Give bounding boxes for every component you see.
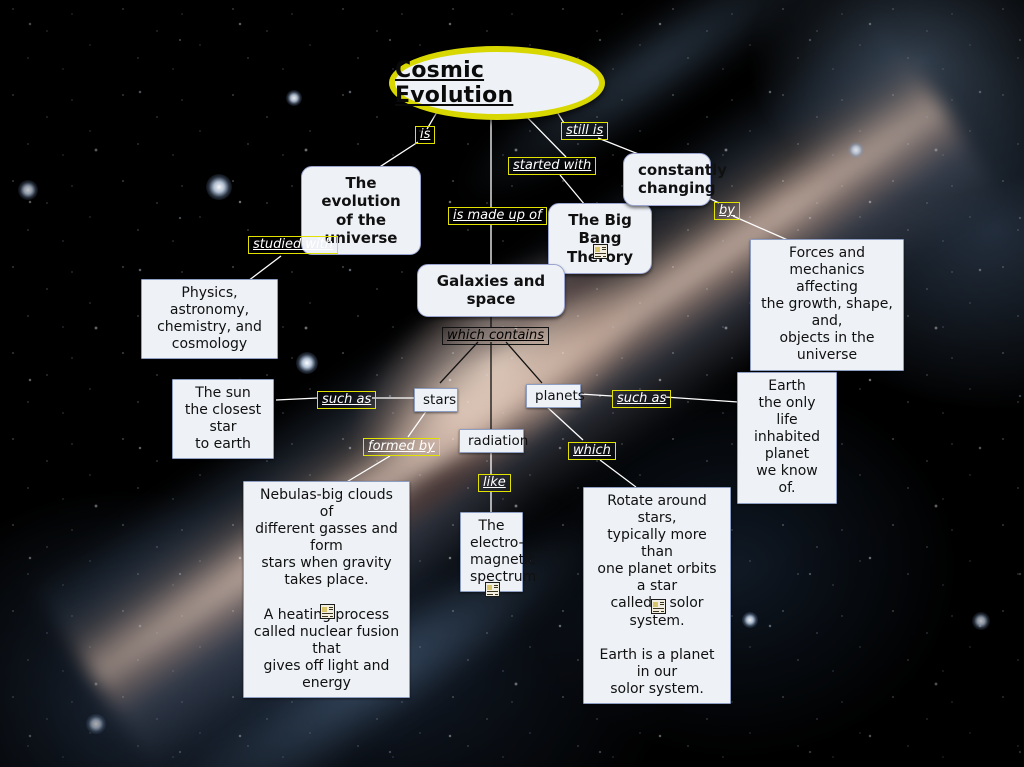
node-the-sun[interactable]: The sunthe closest starto earth bbox=[172, 379, 274, 459]
resource-document-icon[interactable] bbox=[485, 582, 500, 597]
node-the-big-bang-theory[interactable]: The Big BangTherory bbox=[548, 203, 652, 274]
link-label-is[interactable]: is bbox=[415, 126, 435, 144]
node-label: stars bbox=[423, 392, 456, 408]
link-label-formed-by[interactable]: formed by bbox=[363, 438, 440, 456]
link-label-like[interactable]: like bbox=[478, 474, 511, 492]
node-label: Galaxies and space bbox=[437, 272, 545, 308]
node-nebulas[interactable]: Nebulas-big clouds ofdifferent gasses an… bbox=[243, 481, 410, 698]
node-label: planets bbox=[535, 388, 585, 404]
node-earth[interactable]: Earththe only lifeinhabited planetwe kno… bbox=[737, 372, 837, 504]
link-label-which[interactable]: which bbox=[568, 442, 616, 460]
node-label: Earththe only lifeinhabited planetwe kno… bbox=[754, 378, 820, 496]
link-label-such-as-stars[interactable]: such as bbox=[317, 391, 376, 409]
concept-map-canvas: Cosmic Evolution The evolutionof the uni… bbox=[0, 0, 1024, 767]
node-planets[interactable]: planets bbox=[526, 384, 581, 408]
node-physics-astronomy-chemistry-cosmology[interactable]: Physics, astronomy,chemistry, andcosmolo… bbox=[141, 279, 278, 359]
node-electromagnetic-spectrum[interactable]: Theelectro-magneticspectrum bbox=[460, 512, 523, 592]
node-label: radiation bbox=[468, 433, 528, 449]
resource-document-icon[interactable] bbox=[651, 599, 666, 614]
link-label-studied-with[interactable]: studied with bbox=[248, 236, 338, 254]
resource-document-icon[interactable] bbox=[593, 244, 608, 259]
node-radiation[interactable]: radiation bbox=[459, 429, 524, 453]
link-label-which-contains[interactable]: which contains bbox=[442, 327, 549, 345]
node-label: Forces andmechanics affectingthe growth,… bbox=[761, 245, 893, 363]
node-label: Nebulas-big clouds ofdifferent gasses an… bbox=[254, 487, 399, 691]
node-rotate-around-stars[interactable]: Rotate around stars,typically more thano… bbox=[583, 487, 731, 704]
node-label: constantlychanging bbox=[638, 161, 727, 197]
link-label-started-with[interactable]: started with bbox=[508, 157, 596, 175]
node-label: The sunthe closest starto earth bbox=[185, 385, 261, 452]
node-galaxies-and-space[interactable]: Galaxies and space bbox=[417, 264, 565, 317]
resource-document-icon[interactable] bbox=[320, 604, 335, 619]
link-label-by[interactable]: by bbox=[714, 202, 740, 220]
node-stars[interactable]: stars bbox=[414, 388, 458, 412]
node-label: Rotate around stars,typically more thano… bbox=[597, 493, 716, 697]
link-label-still-is[interactable]: still is bbox=[561, 122, 608, 140]
node-forces-and-mechanics[interactable]: Forces andmechanics affectingthe growth,… bbox=[750, 239, 904, 371]
node-label: Physics, astronomy,chemistry, andcosmolo… bbox=[157, 285, 262, 352]
node-constantly-changing[interactable]: constantlychanging bbox=[623, 153, 711, 206]
link-label-is-made-up-of[interactable]: is made up of bbox=[448, 207, 547, 225]
central-topic-node[interactable]: Cosmic Evolution bbox=[389, 46, 605, 120]
page-title: Cosmic Evolution bbox=[395, 58, 599, 108]
link-label-such-as-planets[interactable]: such as bbox=[612, 390, 671, 408]
